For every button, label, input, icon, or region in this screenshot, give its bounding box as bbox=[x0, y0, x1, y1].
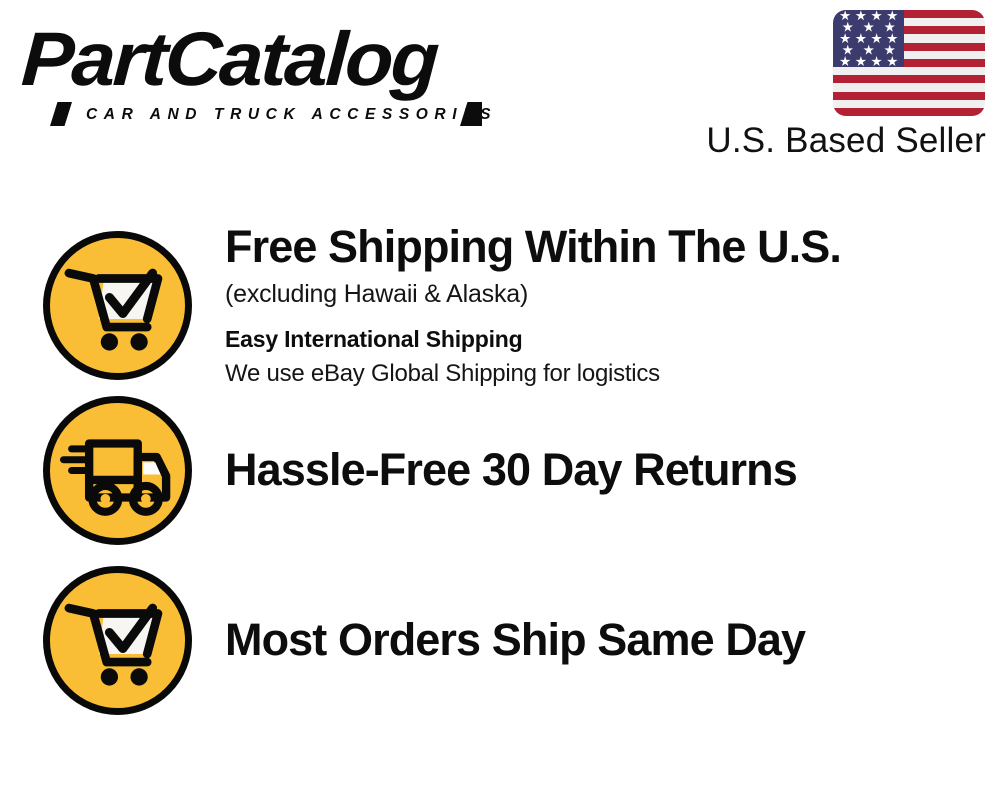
delivery-truck-icon bbox=[43, 396, 192, 545]
flag-star-icon bbox=[887, 33, 898, 44]
feature-heading: Hassle-Free 30 Day Returns bbox=[225, 443, 980, 497]
feature-note: (excluding Hawaii & Alaska) bbox=[225, 277, 980, 311]
flag-star-icon bbox=[855, 56, 866, 67]
feature-heading: Free Shipping Within The U.S. bbox=[225, 220, 980, 274]
seller-label: U.S. Based Seller bbox=[706, 120, 986, 162]
brand-logo: PartCatalog CAR AND TRUCK ACCESSORIES bbox=[24, 22, 494, 117]
logo-swash-left-icon bbox=[50, 102, 72, 126]
flag-star-icon bbox=[887, 10, 898, 21]
brand-tagline: CAR AND TRUCK ACCESSORIES bbox=[86, 106, 497, 124]
feature-row: Most Orders Ship Same Day bbox=[0, 555, 1000, 725]
feature-heading: Most Orders Ship Same Day bbox=[225, 613, 980, 667]
feature-text: Free Shipping Within The U.S. (excluding… bbox=[225, 220, 1000, 390]
us-based-seller-badge: U.S. Based Seller bbox=[706, 10, 986, 160]
flag-star-icon bbox=[840, 33, 851, 44]
flag-star-icon bbox=[863, 45, 874, 56]
shopping-cart-check-icon bbox=[43, 566, 192, 715]
feature-text: Hassle-Free 30 Day Returns bbox=[225, 443, 1000, 497]
flag-star-icon bbox=[884, 22, 895, 33]
us-flag-icon bbox=[833, 10, 985, 116]
flag-star-icon bbox=[871, 56, 882, 67]
flag-star-icon bbox=[840, 56, 851, 67]
flag-star-icon bbox=[840, 10, 851, 21]
banner-header: PartCatalog CAR AND TRUCK ACCESSORIES U.… bbox=[0, 0, 1000, 180]
feature-row: Free Shipping Within The U.S. (excluding… bbox=[0, 210, 1000, 400]
brand-wordmark: PartCatalog bbox=[19, 18, 439, 102]
shopping-cart-check-icon bbox=[43, 231, 192, 380]
flag-star-icon bbox=[855, 33, 866, 44]
flag-canton bbox=[833, 10, 904, 67]
flag-star-icon bbox=[884, 45, 895, 56]
feature-text: Most Orders Ship Same Day bbox=[225, 613, 1000, 667]
flag-star-icon bbox=[887, 56, 898, 67]
feature-subheading: Easy International Shipping bbox=[225, 324, 980, 355]
flag-star-icon bbox=[842, 45, 853, 56]
flag-star-icon bbox=[842, 22, 853, 33]
feature-row: Hassle-Free 30 Day Returns bbox=[0, 385, 1000, 555]
flag-star-icon bbox=[855, 10, 866, 21]
flag-star-icon bbox=[871, 10, 882, 21]
flag-star-icon bbox=[871, 33, 882, 44]
promo-banner: PartCatalog CAR AND TRUCK ACCESSORIES U.… bbox=[0, 0, 1000, 800]
flag-star-icon bbox=[863, 22, 874, 33]
